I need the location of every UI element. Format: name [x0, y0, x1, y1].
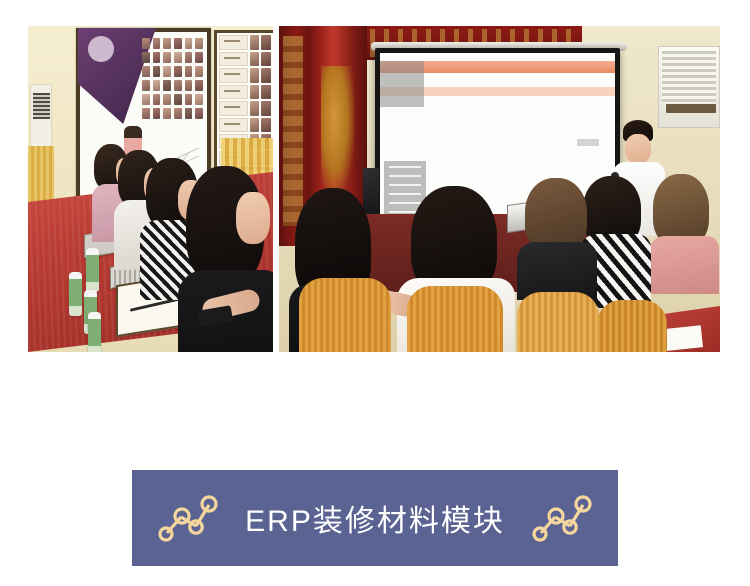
photo-collage — [28, 26, 720, 352]
photo-grid-collage — [142, 38, 203, 144]
gold-banquet-chair — [407, 286, 503, 352]
software-side-panel — [380, 61, 424, 107]
air-conditioner-panel — [666, 104, 716, 113]
gold-banquet-chair — [517, 292, 599, 352]
banner-title: ERP装修材料模块 — [245, 496, 505, 540]
attendee-foreground-with-phone — [178, 166, 273, 352]
water-bottle — [69, 272, 82, 316]
air-conditioner-unit — [658, 46, 720, 128]
water-bottle — [86, 248, 99, 292]
photo-left-meeting-table — [28, 26, 273, 352]
water-bottle — [88, 312, 101, 352]
attendee-seated — [649, 174, 720, 294]
section-banner: ERP装修材料模块 — [132, 470, 618, 566]
attendee-seated — [517, 178, 603, 298]
gold-banquet-chair — [597, 300, 667, 352]
photo-right-presentation — [279, 26, 720, 352]
line-chart-icon — [531, 492, 593, 544]
gold-banquet-chair — [299, 278, 391, 352]
line-chart-icon — [157, 492, 219, 544]
page-root: ERP装修材料模块 — [0, 0, 750, 586]
software-button — [577, 139, 599, 146]
